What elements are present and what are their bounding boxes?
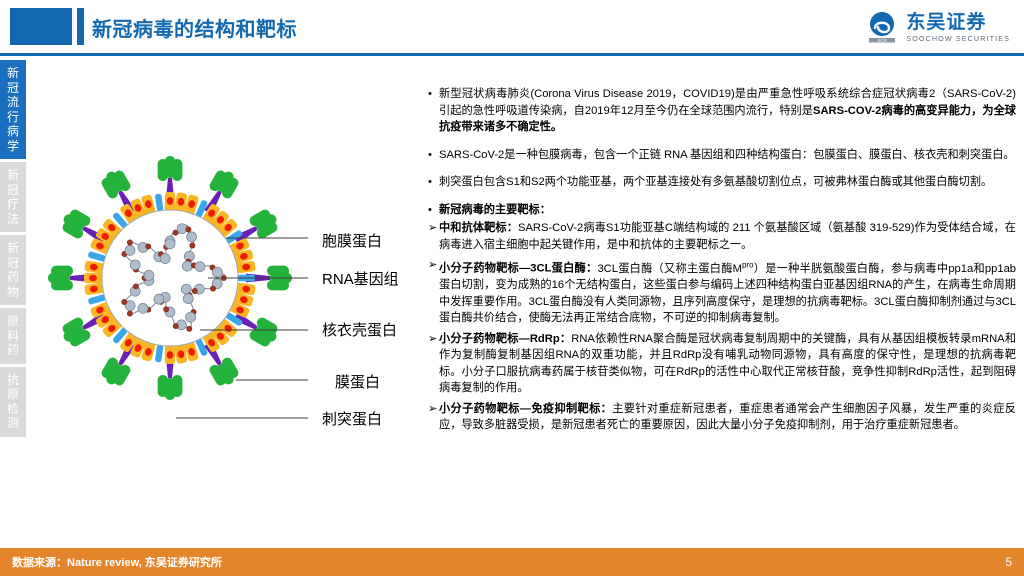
envelope-segment xyxy=(155,344,164,363)
label-envelope-protein: 胞膜蛋白 xyxy=(322,230,382,251)
text-run-0: 新冠病毒的主要靶标： xyxy=(439,204,551,216)
virus-diagram-svg xyxy=(40,130,308,430)
paragraph-0: •新型冠状病毒肺炎(Corona Virus Disease 2019，COVI… xyxy=(428,86,1016,136)
paragraph-1: •SARS-CoV-2是一种包膜病毒，包含一个正链 RNA 基因组和四种结构蛋白… xyxy=(428,147,1016,164)
paragraph-body: 小分子药物靶标—3CL蛋白酶：3CL蛋白酶（又称主蛋白酶Mpro）是一种半胱氨酸… xyxy=(439,257,1016,327)
sidebar-tab-char: 新 xyxy=(7,168,19,183)
sidebar-tab-char: 流 xyxy=(7,95,19,110)
logo-text-en: SOOCHOW SECURITIES xyxy=(906,35,1010,42)
label-rna-genome: RNA基因组 xyxy=(322,268,399,289)
paragraph-bullet: ➢ xyxy=(428,331,439,397)
rna-bead xyxy=(173,324,178,329)
header-divider xyxy=(0,53,1024,56)
rna-bead xyxy=(146,244,151,249)
envelope-segment xyxy=(165,192,175,211)
sidebar-tab-char: 行 xyxy=(7,110,19,125)
paragraph-bullet: • xyxy=(428,174,439,191)
sidebar-tab-char: 原 xyxy=(7,387,19,402)
text-run-0: 小分子药物靶标—3CL蛋白酶： xyxy=(439,263,597,275)
slide-root: 新冠病毒的结构和靶标 SCS 东吴证券 SOOCHOW SECURITIES 新… xyxy=(0,0,1024,576)
company-logo: SCS 东吴证券 SOOCHOW SECURITIES xyxy=(865,9,1010,47)
sidebar-tab-char: 测 xyxy=(7,416,19,431)
paragraph-7: ➢小分子药物靶标—免疫抑制靶标：主要针对重症新冠患者，重症患者通常会产生细胞因子… xyxy=(428,401,1016,434)
sidebar-tab-char: 新 xyxy=(7,66,19,81)
sidebar-tab-3[interactable]: 原料药 xyxy=(0,308,26,364)
rna-bead xyxy=(133,284,138,289)
envelope-segment xyxy=(155,193,164,212)
sidebar-tab-char: 法 xyxy=(7,212,19,227)
nucleocapsid-bead xyxy=(125,245,135,255)
paragraph-4: ➢中和抗体靶标：SARS-CoV-2病毒S1功能亚基C端结构域的 211 个氨基… xyxy=(428,220,1016,253)
paragraph-3: •新冠病毒的主要靶标： xyxy=(428,202,1016,219)
sidebar-tab-char: 冠 xyxy=(7,81,19,96)
label-spike-protein: 刺突蛋白 xyxy=(322,408,382,429)
rna-bead xyxy=(164,307,169,312)
sidebar-tab-char: 新 xyxy=(7,241,19,256)
rna-bead xyxy=(192,288,197,293)
paragraph-bullet: • xyxy=(428,86,439,136)
rna-bead xyxy=(186,227,191,232)
sidebar-tab-char: 冠 xyxy=(7,183,19,198)
footer-source: 数据来源：Nature review, 东吴证券研究所 xyxy=(12,554,222,570)
nucleocapsid-bead xyxy=(160,254,170,264)
sidebar-tab-char: 物 xyxy=(7,285,19,300)
envelope-segment xyxy=(84,282,104,295)
paragraph-body: 中和抗体靶标：SARS-CoV-2病毒S1功能亚基C端结构域的 211 个氨基酸… xyxy=(439,220,1016,253)
logo-text-cn: 东吴证券 xyxy=(906,13,1010,32)
sidebar-tab-char: 料 xyxy=(7,329,19,344)
soochow-logo-mark: SCS xyxy=(865,11,899,45)
slide-header: 新冠病毒的结构和靶标 SCS 东吴证券 SOOCHOW SECURITIES xyxy=(0,0,1024,56)
rna-bead xyxy=(127,240,132,245)
paragraph-body: 新型冠状病毒肺炎(Corona Virus Disease 2019，COVID… xyxy=(439,86,1016,136)
title-decoration-block xyxy=(10,8,72,45)
paragraph-body: 刺突蛋白包含S1和S2两个功能亚基，两个亚基连接处有多氨基酸切割位点，可被弗林蛋… xyxy=(439,174,1016,191)
text-run-0: 中和抗体靶标： xyxy=(439,222,518,234)
paragraph-bullet: ➢ xyxy=(428,257,439,327)
sidebar-tab-4[interactable]: 抗原检测 xyxy=(0,367,26,437)
logo-wordmark: 东吴证券 SOOCHOW SECURITIES xyxy=(906,13,1010,42)
virus-diagram xyxy=(40,130,308,430)
nucleocapsid-bead xyxy=(182,261,192,271)
text-run-0: 小分子药物靶标—免疫抑制靶标： xyxy=(439,403,612,415)
superscript-pro: pro xyxy=(742,260,754,269)
paragraph-2: •刺突蛋白包含S1和S2两个功能亚基，两个亚基连接处有多氨基酸切割位点，可被弗林… xyxy=(428,174,1016,191)
sidebar-tab-1[interactable]: 新冠疗法 xyxy=(0,162,26,232)
text-run-0: 刺突蛋白包含S1和S2两个功能亚基，两个亚基连接处有多氨基酸切割位点，可被弗林蛋… xyxy=(439,176,992,188)
envelope-segment xyxy=(165,345,175,364)
paragraph-body: 新冠病毒的主要靶标： xyxy=(439,202,1016,219)
paragraph-5: ➢小分子药物靶标—3CL蛋白酶：3CL蛋白酶（又称主蛋白酶Mpro）是一种半胱氨… xyxy=(428,257,1016,327)
label-membrane-protein: 膜蛋白 xyxy=(335,371,380,392)
footer-page-number: 5 xyxy=(1005,555,1012,569)
rna-bead xyxy=(122,299,127,304)
sidebar-tab-2[interactable]: 新冠药物 xyxy=(0,235,26,305)
text-run-0: SARS-CoV-2是一种包膜病毒，包含一个正链 RNA 基因组和四种结构蛋白：… xyxy=(439,149,1015,161)
nucleocapsid-bead xyxy=(195,262,205,272)
paragraph-6: ➢小分子药物靶标—RdRp：RNA依赖性RNA聚合酶是冠状病毒复制周期中的关键酶… xyxy=(428,331,1016,397)
envelope-segment xyxy=(84,261,104,274)
sidebar-tab-char: 检 xyxy=(7,402,19,417)
slide-footer: 数据来源：Nature review, 东吴证券研究所 5 xyxy=(0,548,1024,576)
text-run-1: SARS-CoV-2病毒S1功能亚基C端结构域的 211 个氨基酸区域（氨基酸 … xyxy=(439,222,1016,251)
body-text-block: •新型冠状病毒肺炎(Corona Virus Disease 2019，COVI… xyxy=(428,86,1016,438)
nucleocapsid-bead xyxy=(183,294,193,304)
paragraph-bullet: ➢ xyxy=(428,401,439,434)
nucleocapsid-bead xyxy=(187,232,197,242)
rna-bead xyxy=(210,286,215,291)
sidebar-tab-char: 抗 xyxy=(7,373,19,388)
nucleocapsid-bead xyxy=(154,294,164,304)
svg-text:SCS: SCS xyxy=(878,38,887,43)
nucleocapsid-bead xyxy=(212,267,222,277)
paragraph-body: 小分子药物靶标—RdRp：RNA依赖性RNA聚合酶是冠状病毒复制周期中的关键酶，… xyxy=(439,331,1016,397)
sidebar-tab-char: 原 xyxy=(7,314,19,329)
sidebar-tab-0[interactable]: 新冠流行病学 xyxy=(0,60,26,159)
text-run-0: 小分子药物靶标—RdRp： xyxy=(439,333,571,345)
sidebar-tab-char: 疗 xyxy=(7,197,19,212)
rna-bead xyxy=(127,311,132,316)
nucleocapsid-bead xyxy=(130,260,140,270)
nucleocapsid-bead xyxy=(165,239,175,249)
paragraph-bullet: • xyxy=(428,202,439,219)
sidebar-tab-char: 药 xyxy=(7,270,19,285)
nucleocapsid-bead xyxy=(138,303,148,313)
paragraph-body: 小分子药物靶标—免疫抑制靶标：主要针对重症新冠患者，重症患者通常会产生细胞因子风… xyxy=(439,401,1016,434)
sidebar-tab-char: 药 xyxy=(7,343,19,358)
rna-bead xyxy=(190,243,195,248)
nucleocapsid-bead xyxy=(144,270,154,280)
sidebar-tab-char: 病 xyxy=(7,124,19,139)
section-tab-rail: 新冠流行病学新冠疗法新冠药物原料药抗原检测 xyxy=(0,60,26,440)
paragraph-body: SARS-CoV-2是一种包膜病毒，包含一个正链 RNA 基因组和四种结构蛋白：… xyxy=(439,147,1016,164)
rna-bead xyxy=(187,326,192,331)
envelope-segment xyxy=(84,273,103,283)
page-title: 新冠病毒的结构和靶标 xyxy=(92,13,297,42)
sidebar-tab-char: 学 xyxy=(7,139,19,154)
paragraph-bullet: • xyxy=(428,147,439,164)
label-nucleocapsid-protein: 核衣壳蛋白 xyxy=(322,319,397,340)
nucleocapsid-bead xyxy=(186,312,196,322)
title-accent-bar xyxy=(77,8,84,45)
paragraph-bullet: ➢ xyxy=(428,220,439,253)
sidebar-tab-char: 冠 xyxy=(7,256,19,271)
